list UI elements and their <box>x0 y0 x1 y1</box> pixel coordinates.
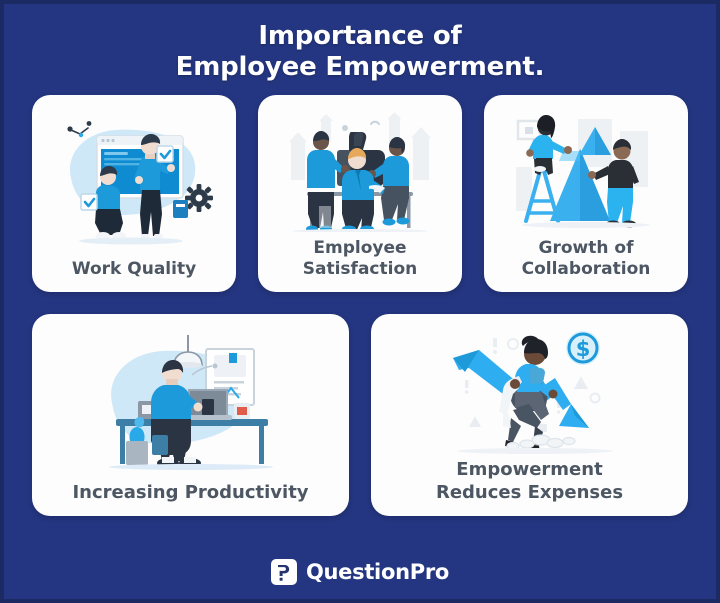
employee-satisfaction-illustration <box>258 103 462 238</box>
increasing-productivity-illustration <box>32 324 349 481</box>
label-line-1: Increasing Productivity <box>72 482 308 503</box>
svg-text:$: $ <box>575 337 590 361</box>
label-line-1: Growth of <box>522 238 651 259</box>
questionpro-wordmark: QuestionPro <box>306 560 449 584</box>
card-row-top: Work Quality <box>32 95 688 292</box>
card-label-employee-satisfaction: Employee Satisfaction <box>295 238 425 292</box>
card-label-empowerment-reduces-expenses: Empowerment Reduces Expenses <box>428 458 631 516</box>
growth-of-collaboration-illustration <box>484 103 688 238</box>
page-title: Importance of Employee Empowerment. <box>4 4 716 83</box>
card-work-quality[interactable]: Work Quality <box>32 95 236 292</box>
empowerment-reduces-expenses-illustration: $ <box>371 324 688 458</box>
descending-arrow-with-dollar-icon: $ <box>435 324 625 458</box>
title-line-1: Importance of <box>4 21 716 52</box>
work-quality-illustration <box>32 103 236 259</box>
label-line-2: Collaboration <box>522 259 651 280</box>
person-at-desk-icon <box>96 333 286 473</box>
team-thumbs-up-icon <box>285 110 435 232</box>
building-pyramid-icon <box>510 109 662 233</box>
dollar-coin-icon: $ <box>566 331 600 365</box>
person-on-ladder <box>526 115 572 175</box>
card-label-increasing-productivity: Increasing Productivity <box>64 481 316 516</box>
card-growth-of-collaboration[interactable]: Growth of Collaboration <box>484 95 688 292</box>
card-row-bottom: Increasing Productivity <box>32 314 688 516</box>
title-line-2: Employee Empowerment. <box>4 52 716 83</box>
seated-woman <box>499 336 558 452</box>
card-empowerment-reduces-expenses[interactable]: $ <box>371 314 688 516</box>
card-increasing-productivity[interactable]: Increasing Productivity <box>32 314 349 516</box>
card-grid: Work Quality <box>4 83 716 516</box>
label-line-1: Employee <box>303 238 417 259</box>
questionpro-logo-icon <box>271 559 297 585</box>
card-employee-satisfaction[interactable]: Employee Satisfaction <box>258 95 462 292</box>
paper-scatter <box>507 435 575 450</box>
label-line-1: Empowerment <box>436 458 623 481</box>
label-line-2: Satisfaction <box>303 259 417 280</box>
card-label-growth-of-collaboration: Growth of Collaboration <box>514 238 659 292</box>
card-label-work-quality: Work Quality <box>64 259 204 292</box>
gear-icon <box>185 184 213 212</box>
label-line-2: Reduces Expenses <box>436 481 623 504</box>
brand-footer: QuestionPro <box>4 559 716 585</box>
two-people-reviewing-screen-icon <box>49 116 219 246</box>
label-line-1: Work Quality <box>72 259 196 279</box>
infographic-poster: Importance of Employee Empowerment. <box>0 0 720 603</box>
